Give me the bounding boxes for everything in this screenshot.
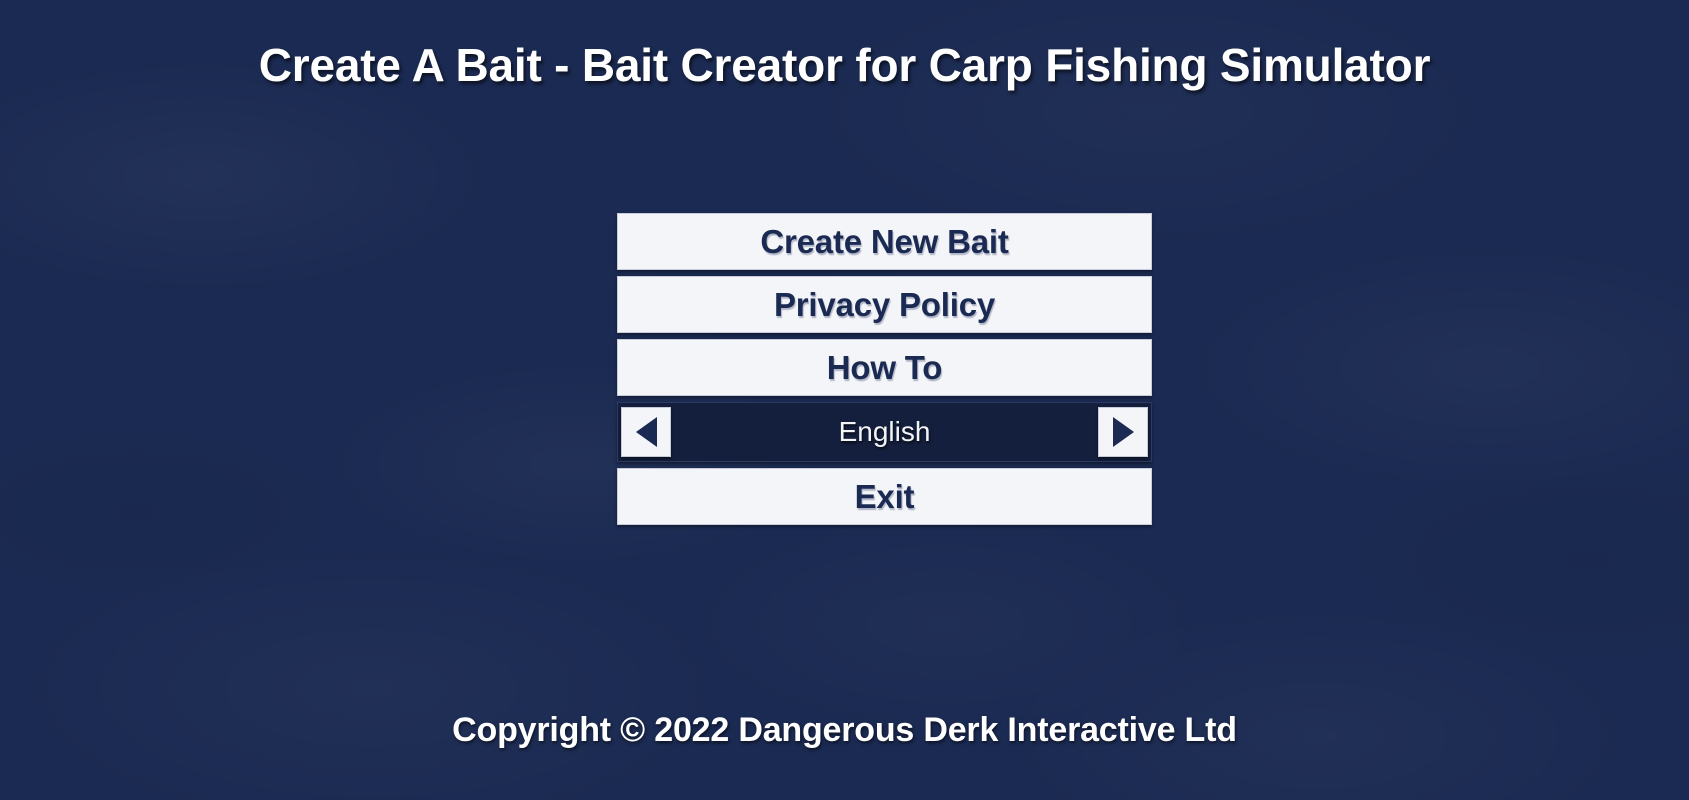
create-new-bait-button[interactable]: Create New Bait xyxy=(617,213,1152,270)
page-title: Create A Bait - Bait Creator for Carp Fi… xyxy=(0,38,1689,92)
language-previous-button[interactable] xyxy=(621,407,671,457)
exit-label: Exit xyxy=(855,478,915,516)
triangle-right-icon xyxy=(1113,417,1134,447)
language-selector: English xyxy=(617,402,1152,462)
triangle-left-icon xyxy=(636,417,657,447)
language-value: English xyxy=(618,416,1151,448)
exit-button[interactable]: Exit xyxy=(617,468,1152,525)
main-menu: Create New Bait Privacy Policy How To En… xyxy=(617,213,1152,525)
how-to-button[interactable]: How To xyxy=(617,339,1152,396)
privacy-policy-label: Privacy Policy xyxy=(774,286,995,324)
copyright-text: Copyright © 2022 Dangerous Derk Interact… xyxy=(0,711,1689,750)
main-menu-screen: Create A Bait - Bait Creator for Carp Fi… xyxy=(0,0,1689,800)
privacy-policy-button[interactable]: Privacy Policy xyxy=(617,276,1152,333)
how-to-label: How To xyxy=(827,349,943,387)
create-new-bait-label: Create New Bait xyxy=(760,223,1008,261)
language-next-button[interactable] xyxy=(1098,407,1148,457)
